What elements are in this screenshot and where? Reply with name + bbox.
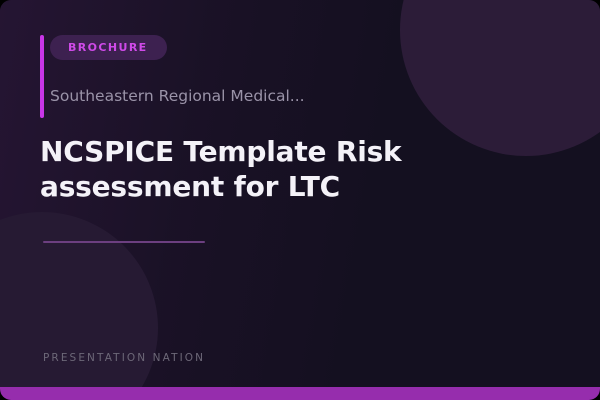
left-accent-rule — [40, 35, 44, 118]
bottom-accent-bar — [0, 387, 600, 400]
footer-brand-label: PRESENTATION NATION — [43, 353, 205, 364]
category-badge: BROCHURE — [50, 35, 167, 60]
eyebrow-group: BROCHURE Southeastern Regional Medical..… — [40, 35, 560, 106]
title-divider — [43, 241, 205, 243]
page-title: NCSPICE Template Risk assessment for LTC — [40, 134, 555, 205]
slide-content: BROCHURE Southeastern Regional Medical..… — [0, 0, 600, 400]
organization-subtitle: Southeastern Regional Medical... — [50, 87, 560, 106]
brochure-slide: BROCHURE Southeastern Regional Medical..… — [0, 0, 600, 400]
